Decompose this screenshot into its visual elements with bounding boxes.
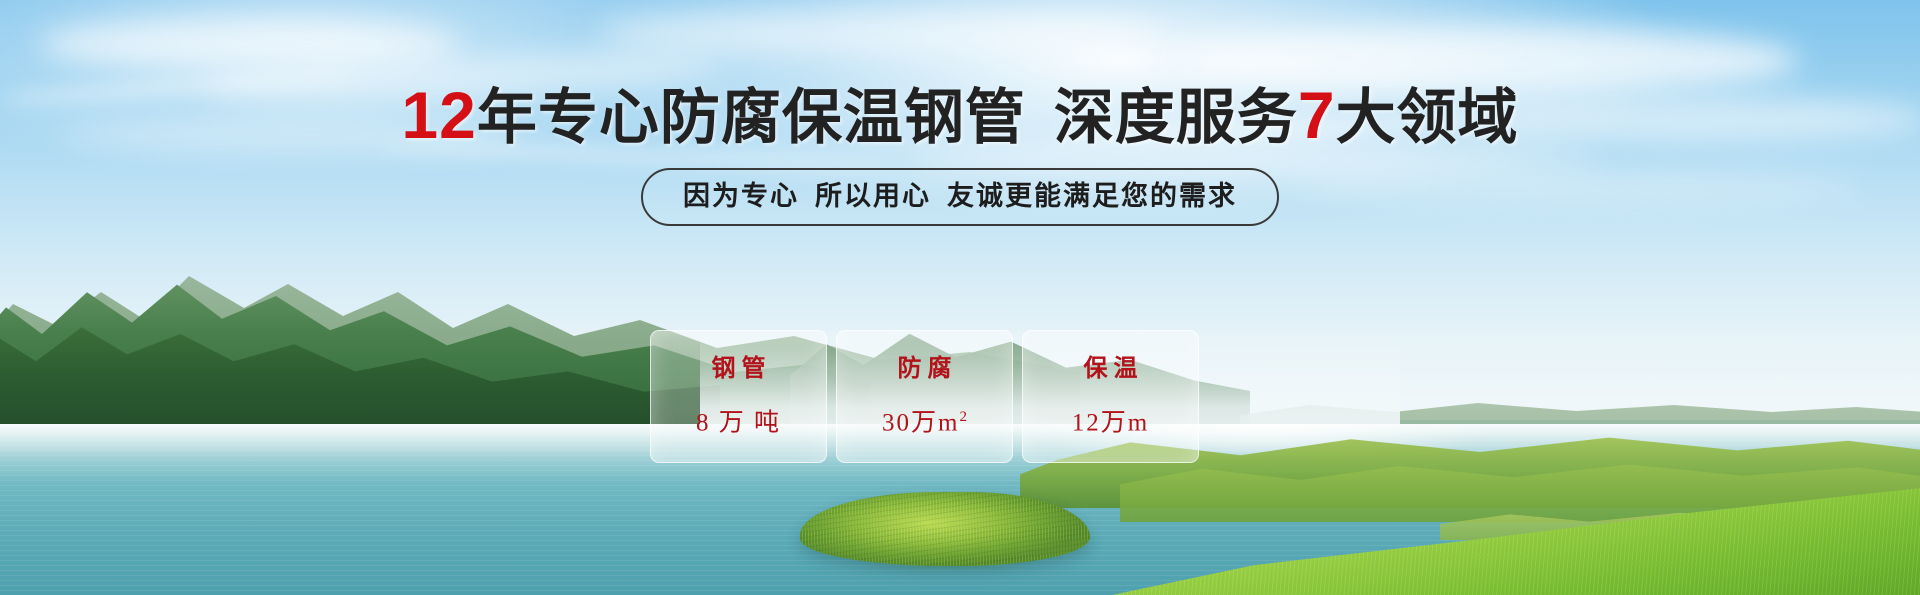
- stat-card-value: 30万m2: [882, 404, 967, 436]
- headline-years-number: 12: [401, 78, 476, 152]
- stat-card-title: 钢管: [706, 356, 772, 382]
- stat-card-value: 12万m: [1072, 404, 1149, 436]
- grass-island-texture: [800, 492, 1090, 566]
- stat-card-value-sup: 2: [959, 409, 967, 425]
- stat-card-steel-pipe[interactable]: 钢管 8 万 吨: [650, 330, 827, 463]
- cloud-shape: [600, 10, 1160, 56]
- hero-banner: 12年专心防腐保温钢管深度服务7大领域 因为专心所以用心友诚更能满足您的需求 钢…: [0, 0, 1920, 595]
- headline-part-three: 大领域: [1336, 84, 1519, 151]
- headline-part-one: 年专心防腐保温钢管: [477, 84, 1026, 151]
- headline-fields-number: 7: [1298, 78, 1336, 152]
- banner-headline: 12年专心防腐保温钢管深度服务7大领域: [0, 80, 1920, 153]
- stat-card-title: 防腐: [892, 356, 958, 382]
- subtitle-segment-2: 所以用心: [815, 181, 931, 211]
- subtitle-segment-1: 因为专心: [683, 181, 799, 211]
- subtitle-container: 因为专心所以用心友诚更能满足您的需求: [0, 168, 1920, 226]
- stat-card-anticorrosion[interactable]: 防腐 30万m2: [836, 330, 1013, 463]
- headline-part-two: 深度服务: [1054, 84, 1298, 151]
- subtitle-pill: 因为专心所以用心友诚更能满足您的需求: [641, 168, 1279, 226]
- stat-card-value-text: 8 万 吨: [696, 410, 781, 437]
- stat-card-title: 保温: [1078, 356, 1144, 382]
- stat-card-value: 8 万 吨: [696, 404, 781, 436]
- stat-card-insulation[interactable]: 保温 12万m: [1022, 330, 1199, 463]
- stat-card-group: 钢管 8 万 吨 防腐 30万m2 保温 12万m: [650, 330, 1199, 463]
- stat-card-value-text: 12万m: [1072, 410, 1149, 437]
- subtitle-segment-3: 友诚更能满足您的需求: [947, 181, 1237, 211]
- stat-card-value-text: 30万m: [882, 410, 959, 437]
